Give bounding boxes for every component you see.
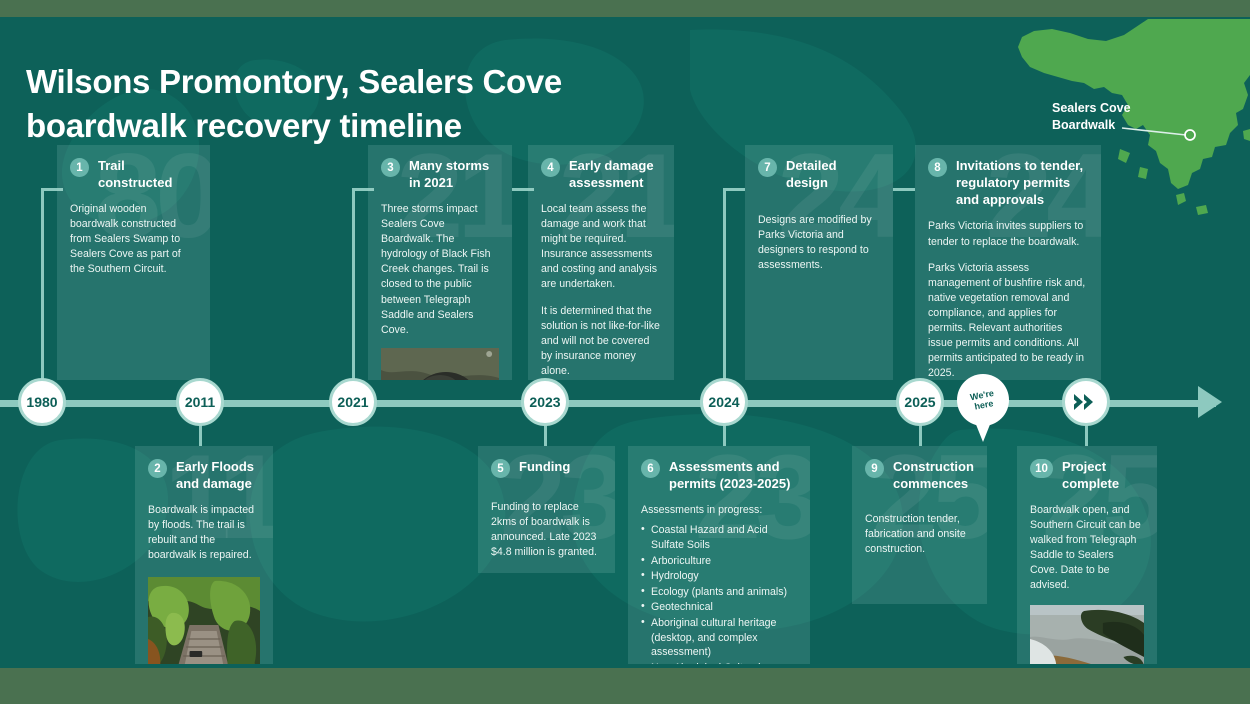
pin-ball: We're here (957, 374, 1009, 426)
card-paragraph: Parks Victoria assess management of bush… (928, 261, 1088, 380)
card-body: Original wooden boardwalk constructed fr… (70, 202, 197, 277)
card-paragraph: Boardwalk is impacted by floods. The tra… (148, 503, 260, 563)
card-title: Early damage assessment (569, 157, 661, 191)
card-paragraph: Funding to replace 2kms of boardwalk is … (491, 500, 602, 560)
card-paragraph: Designs are modified by Parks Victoria a… (758, 213, 880, 273)
card-title: Invitations to tender, regulatory permit… (956, 157, 1088, 208)
timeline-node-1980[interactable]: 1980 (18, 378, 66, 426)
card-title: Project complete (1062, 458, 1144, 492)
timeline-card-10[interactable]: 25 10 Project complete Boardwalk open, a… (1017, 446, 1157, 664)
fern-boardwalk-photo (148, 577, 260, 664)
card-number-badge: 10 (1030, 459, 1053, 478)
card-body: Local team assess the damage and work th… (541, 202, 661, 378)
timeline-card-3[interactable]: 21 3 Many storms in 2021 Three storms im… (368, 145, 512, 380)
card-number-badge: 1 (70, 158, 89, 177)
timeline-arrow-head (1198, 386, 1222, 418)
timeline-node-2024[interactable]: 2024 (700, 378, 748, 426)
card-header: 5 Funding (491, 458, 602, 478)
timeline-node-2023[interactable]: 2023 (521, 378, 569, 426)
timeline-node-2021[interactable]: 2021 (329, 378, 377, 426)
bottom-band (0, 668, 1250, 704)
timeline-card-7[interactable]: 24 7 Detailed design Designs are modifie… (745, 145, 893, 380)
card-header: 3 Many storms in 2021 (381, 157, 499, 191)
connector-node-2021 (352, 188, 355, 400)
card-number-badge: 7 (758, 158, 777, 177)
card-header: 7 Detailed design (758, 157, 880, 191)
list-item: Ecology (plants and animals) (641, 585, 797, 600)
timeline-node-label: 2024 (708, 394, 739, 410)
storm-damage-photo-art (381, 348, 499, 380)
card-title: Trail constructed (98, 157, 197, 191)
timeline-node-2011[interactable]: 2011 (176, 378, 224, 426)
pin-text: We're here (969, 388, 997, 413)
card-body: Funding to replace 2kms of boardwalk is … (491, 500, 602, 560)
timeline-card-1[interactable]: 80 1 Trail constructed Original wooden b… (57, 145, 210, 380)
card-header: 6 Assessments and permits (2023-2025) (641, 458, 797, 492)
fern-boardwalk-photo-art (148, 577, 260, 664)
card-paragraph: Parks Victoria invites suppliers to tend… (928, 219, 1088, 249)
card-title: Construction commences (893, 458, 974, 492)
page-title-line-2: boardwalk recovery timeline (26, 104, 562, 148)
timeline-node-label: 1980 (26, 394, 57, 410)
page-title: Wilsons Promontory, Sealers Cove boardwa… (26, 60, 562, 147)
card-number-badge: 3 (381, 158, 400, 177)
connector-node-1980 (41, 188, 44, 400)
list-item: Geotechnical (641, 600, 797, 615)
assessments-list: Coastal Hazard and Acid Sulfate Soils Ar… (641, 523, 797, 664)
card-title: Assessments and permits (2023-2025) (669, 458, 797, 492)
card-body: Boardwalk open, and Southern Circuit can… (1030, 503, 1144, 593)
timeline-node-label: 2011 (185, 394, 215, 410)
card-header: 1 Trail constructed (70, 157, 197, 191)
timeline-node-end[interactable] (1062, 378, 1110, 426)
list-item: Coastal Hazard and Acid Sulfate Soils (641, 523, 797, 552)
card-body: Parks Victoria invites suppliers to tend… (928, 219, 1088, 380)
card-header: 2 Early Floods and damage (148, 458, 260, 492)
card-paragraph: Construction tender, fabrication and ons… (865, 512, 974, 557)
timeline-card-2[interactable]: 11 2 Early Floods and damage Boardwalk i… (135, 446, 273, 664)
bullets-intro: Assessments in progress: (641, 503, 797, 518)
card-body: Three storms impact Sealers Cove Boardwa… (381, 202, 499, 337)
timeline-card-4[interactable]: 21 4 Early damage assessment Local team … (528, 145, 674, 380)
map-label-line-1: Sealers Cove (1052, 100, 1131, 117)
card-body: Construction tender, fabrication and ons… (865, 512, 974, 557)
card-paragraph: Local team assess the damage and work th… (541, 202, 661, 292)
top-band (0, 0, 1250, 17)
card-header: 9 Construction commences (865, 458, 974, 492)
cove-aerial-photo-art (1030, 605, 1144, 665)
timeline-node-label: 2023 (529, 394, 560, 410)
card-number-badge: 5 (491, 459, 510, 478)
card-title: Funding (519, 458, 570, 475)
timeline-node-label: 2025 (904, 394, 935, 410)
timeline-card-6[interactable]: 23 6 Assessments and permits (2023-2025)… (628, 446, 810, 664)
card-body: Designs are modified by Parks Victoria a… (758, 213, 880, 273)
connector-node-2024-arm (723, 188, 745, 191)
storm-damage-photo (381, 348, 499, 380)
card-body: Assessments in progress: Coastal Hazard … (641, 503, 797, 664)
list-item: Non-Aboriginal Cultural Heritage (641, 661, 797, 664)
timeline-node-label: 2021 (337, 394, 368, 410)
connector-node-2024 (723, 188, 726, 400)
card-paragraph: Three storms impact Sealers Cove Boardwa… (381, 202, 499, 337)
card-paragraph: Boardwalk open, and Southern Circuit can… (1030, 503, 1144, 593)
card-number-badge: 2 (148, 459, 167, 478)
were-here-pin: We're here (957, 374, 1009, 444)
timeline-card-5[interactable]: 23 5 Funding Funding to replace 2kms of … (478, 446, 615, 573)
card-title: Early Floods and damage (176, 458, 260, 492)
cove-aerial-photo (1030, 605, 1144, 665)
card-paragraph: Original wooden boardwalk constructed fr… (70, 202, 197, 277)
list-item: Hydrology (641, 569, 797, 584)
double-chevron-icon (1073, 393, 1099, 411)
card-body: Boardwalk is impacted by floods. The tra… (148, 503, 260, 563)
card-number-badge: 9 (865, 459, 884, 478)
card-number-badge: 8 (928, 158, 947, 177)
card-header: 8 Invitations to tender, regulatory perm… (928, 157, 1088, 208)
card-paragraph: It is determined that the solution is no… (541, 304, 661, 379)
list-item: Aboriginal cultural heritage (desktop, a… (641, 616, 797, 660)
timeline-node-2025[interactable]: 2025 (896, 378, 944, 426)
infographic-stage: Wilsons Promontory, Sealers Cove boardwa… (0, 0, 1250, 704)
card-header: 10 Project complete (1030, 458, 1144, 492)
map-label-line-2: Boardwalk (1052, 117, 1131, 134)
card-number-badge: 4 (541, 158, 560, 177)
page-title-line-1: Wilsons Promontory, Sealers Cove (26, 60, 562, 104)
list-item: Arboriculture (641, 554, 797, 569)
timeline-card-9[interactable]: 25 9 Construction commences Construction… (852, 446, 987, 604)
card-title: Many storms in 2021 (409, 157, 499, 191)
timeline-card-8[interactable]: 24 8 Invitations to tender, regulatory p… (915, 145, 1101, 380)
map-label: Sealers Cove Boardwalk (1052, 100, 1131, 134)
card-title: Detailed design (786, 157, 880, 191)
connector-card-8-arm (893, 188, 915, 191)
card-number-badge: 6 (641, 459, 660, 478)
card-header: 4 Early damage assessment (541, 157, 661, 191)
